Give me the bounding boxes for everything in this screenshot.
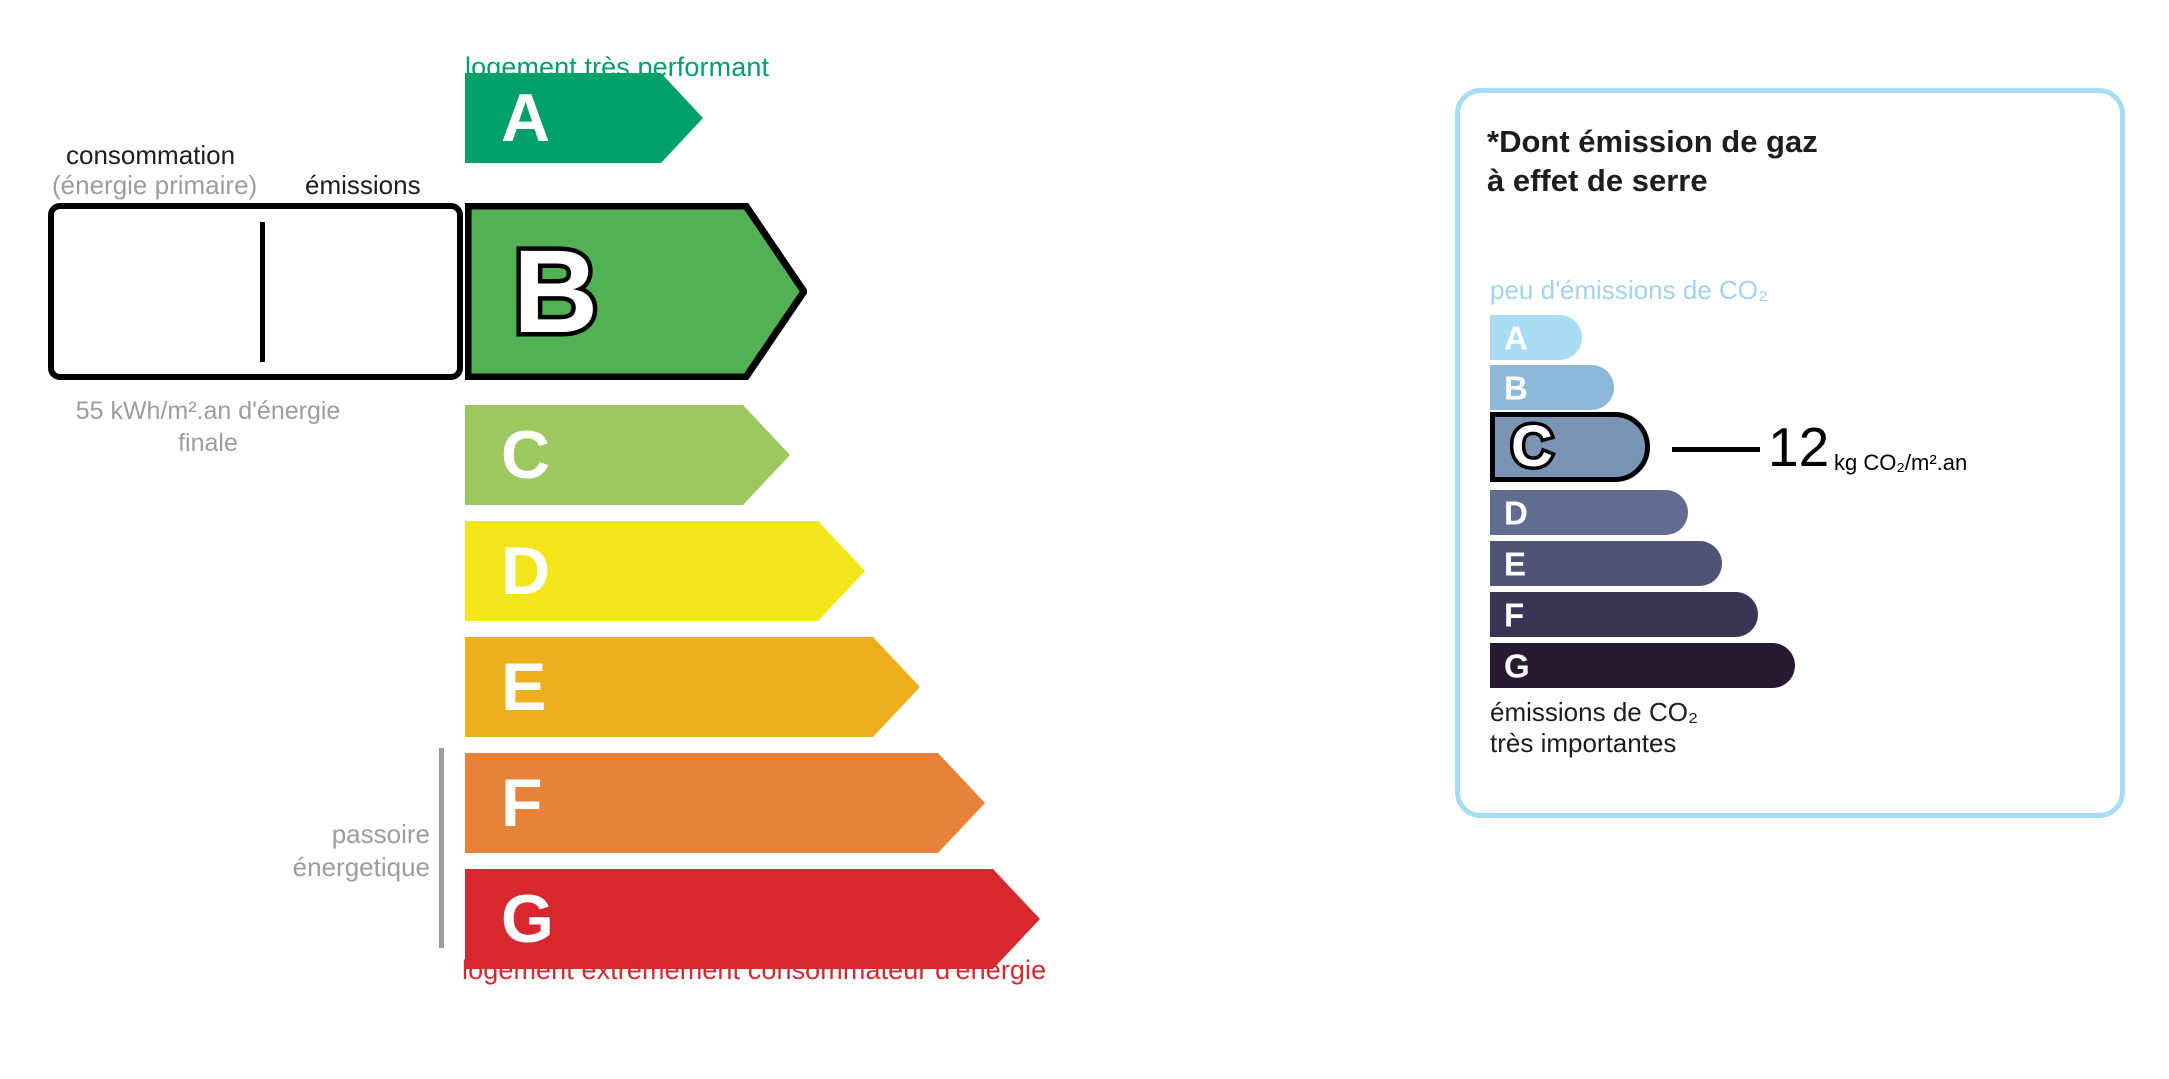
consumption-header-sublabel: (énergie primaire) [52, 170, 257, 201]
co2-bar-d: D [1490, 490, 1688, 535]
final-energy-note: 55 kWh/m².an d'énergie finale [48, 395, 368, 459]
co2-top-note: peu d'émissions de CO₂ [1490, 275, 1768, 306]
co2-bar-g: G [1490, 643, 1795, 688]
consumption-header-label: consommation [66, 140, 235, 171]
passoire-label: passoire énergetique [250, 818, 430, 884]
energy-letter-e: E [501, 653, 546, 721]
energy-row-g: G [465, 869, 1040, 969]
energy-letter-a: A [501, 84, 550, 152]
energy-row-e: E [465, 637, 920, 737]
co2-letter-c: C [1511, 418, 1553, 476]
co2-letter-e: E [1504, 547, 1526, 580]
co2-bar-b: B [1490, 365, 1614, 410]
co2-bottom-note: émissions de CO₂ très importantes [1490, 697, 1698, 759]
emissions-header-label: émissions [305, 170, 421, 201]
value-box-divider [260, 222, 265, 362]
co2-value: 12 [1768, 420, 1829, 475]
co2-bar-a: A [1490, 315, 1582, 360]
energy-row-a: A [465, 73, 703, 163]
co2-panel-title: *Dont émission de gaz à effet de serre [1487, 122, 1818, 200]
energy-consumption-chart: logement très performant consommation (é… [0, 0, 1380, 1079]
energy-letter-c: C [501, 421, 550, 489]
energy-row-f: F [465, 753, 985, 853]
co2-letter-a: A [1504, 321, 1528, 354]
passoire-bracket-line [439, 748, 444, 948]
energy-row-c: C [465, 405, 790, 505]
value-box [48, 203, 463, 380]
energy-row-d: D [465, 521, 865, 621]
co2-bar-e: E [1490, 541, 1722, 586]
energy-letter-g: G [501, 885, 554, 953]
co2-value-unit: kg CO₂/m².an [1834, 452, 1967, 474]
co2-letter-g: G [1504, 649, 1530, 682]
co2-letter-b: B [1504, 371, 1528, 404]
co2-letter-d: D [1504, 496, 1528, 529]
co2-leader-line [1672, 447, 1760, 452]
co2-bar-f: F [1490, 592, 1758, 637]
dpe-diagram: logement très performant consommation (é… [0, 0, 2169, 1079]
energy-letter-d: D [501, 537, 550, 605]
energy-letter-b: B [513, 233, 598, 351]
energy-bottom-note: logement extrêmement consommateur d'éner… [462, 955, 1046, 986]
co2-letter-f: F [1504, 598, 1524, 631]
energy-row-b: B [465, 203, 807, 380]
co2-bar-c: C [1490, 412, 1650, 482]
energy-letter-f: F [501, 769, 543, 837]
